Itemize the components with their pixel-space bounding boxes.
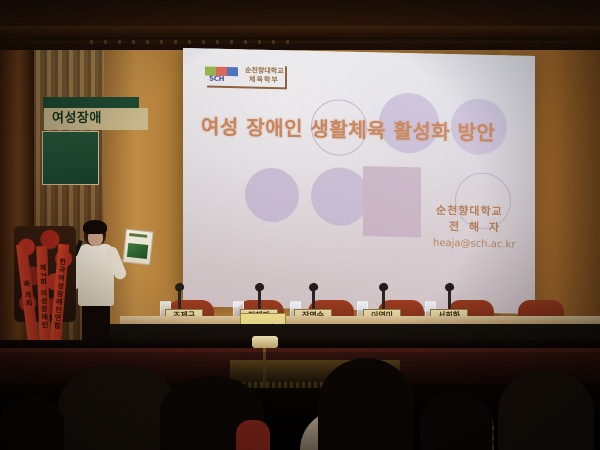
logo-vertical-rule: [285, 66, 287, 88]
booklet: [122, 229, 153, 266]
logo-block-blue: [227, 67, 238, 76]
booklet-cover-image: [127, 243, 148, 259]
presenter-name: 전 해 자: [449, 218, 502, 235]
presenter-email: heaja@sch.ac.kr: [433, 238, 515, 251]
audience-red-garment: [236, 420, 270, 450]
projected-slide: SCH 순천향대학교 체육학부 여성 장애인 생활체육 활성화 방안 순천향대학…: [183, 48, 535, 314]
audience-head: [318, 358, 414, 450]
slide-circle-filled-4: [311, 167, 369, 226]
slide-title: 여성 장애인 생활체육 활성화 방안: [201, 110, 521, 146]
photo-scene: 여성장애 SCH 순천향대학교 체육학부: [0, 0, 600, 450]
wall-banner-text: 여성장애: [44, 108, 148, 130]
slide-circle-filled-3: [245, 167, 299, 222]
stage-edge: [0, 340, 600, 348]
speaker-hair: [83, 220, 107, 234]
truss-lights: [90, 40, 290, 44]
lighting-truss: [0, 26, 600, 35]
logo-underline: [207, 86, 287, 90]
lamp-shade: [252, 336, 278, 348]
audience-head: [0, 396, 64, 450]
slide-logo: SCH 순천향대학교 체육학부: [205, 65, 291, 89]
logo-mark-text: SCH: [209, 75, 224, 83]
audience-head: [420, 392, 492, 450]
logo-department-name: 체육학부: [249, 75, 279, 86]
slide-rect-filled-1: [363, 166, 421, 237]
booklet-title-bar: [129, 233, 147, 238]
audience-head: [498, 370, 594, 450]
audience-foreground: [0, 352, 600, 450]
presenter-affiliation: 순천향대학교: [436, 202, 503, 220]
projection-screen: SCH 순천향대학교 체육학부 여성 장애인 생활체육 활성화 방안 순천향대학…: [183, 48, 535, 314]
wall-banner-panel: [42, 131, 99, 185]
